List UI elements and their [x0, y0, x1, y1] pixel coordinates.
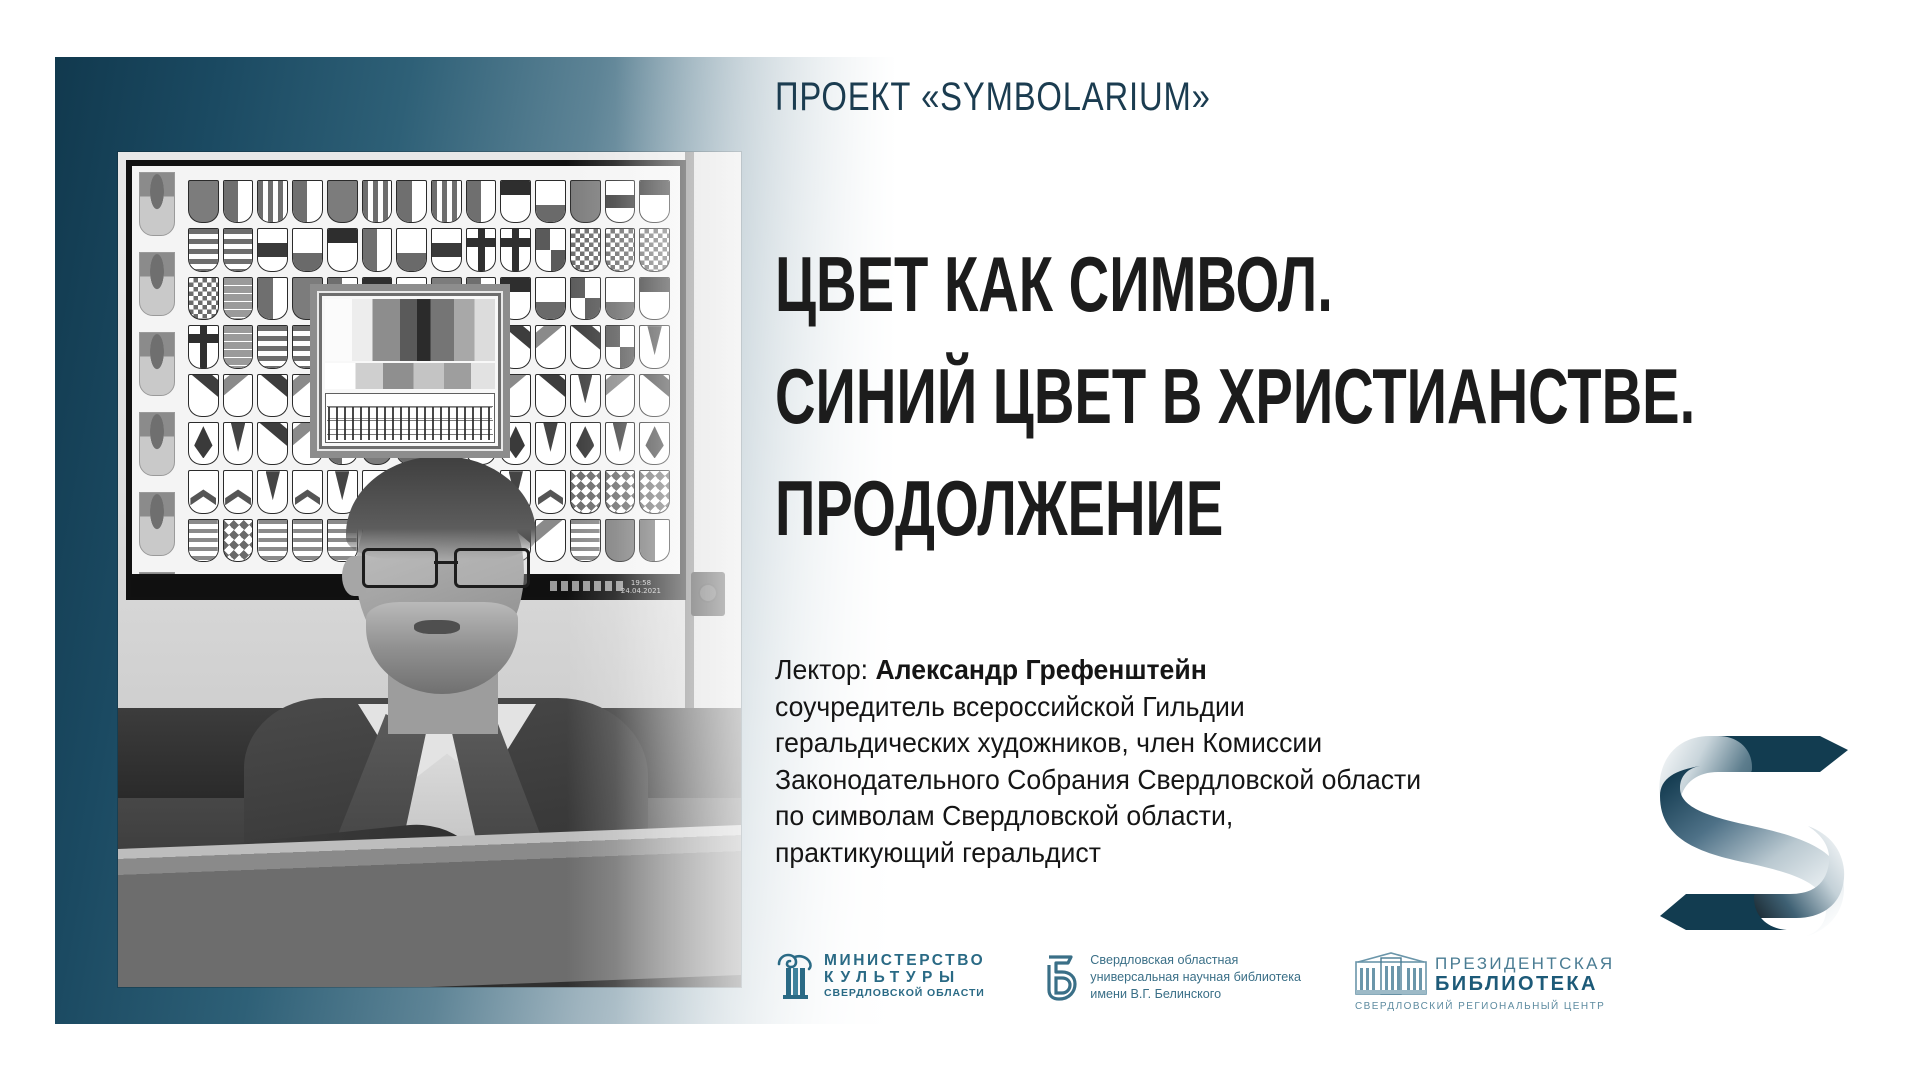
lecturer-bio-line: соучредитель всероссийской Гильдии: [775, 689, 1592, 726]
wall-socket: [691, 572, 725, 616]
logo-ministry-text: МИНИСТЕРСТВО КУЛЬТУРЫ СВЕРДЛОВСКОЙ ОБЛАС…: [824, 952, 985, 1000]
mouth: [414, 620, 460, 634]
logo-line-1: Свердловская областная: [1090, 952, 1301, 969]
library-building-icon: [1355, 952, 1427, 996]
lecturer-name: Александр Грефенштейн: [875, 654, 1206, 685]
title-line-2: СИНИЙ ЦВЕТ В ХРИСТИАНСТВЕ.: [775, 340, 1524, 452]
colour-chart-plate: [310, 284, 510, 458]
lecturer-bio-line: практикующий геральдист: [775, 835, 1592, 872]
thumbnail-item: [139, 332, 175, 396]
lecturer-label: Лектор:: [775, 654, 868, 685]
logo-presidential-library: ПРЕЗИДЕНТСКАЯ БИБЛИОТЕКА СВЕРДЛОВСКИЙ РЕ…: [1355, 952, 1615, 1013]
lecturer-name-line: Лектор: Александр Грефенштейн: [775, 652, 1592, 689]
partner-logos: МИНИСТЕРСТВО КУЛЬТУРЫ СВЕРДЛОВСКОЙ ОБЛАС…: [775, 952, 1615, 1013]
colour-swatch-row: [325, 299, 495, 361]
thumbnail-item: [139, 492, 175, 556]
ionic-column-icon: [775, 952, 815, 1000]
lecturer-photo: 19:58 24.04.2021: [118, 152, 741, 987]
logo-prezlib-top: ПРЕЗИДЕНТСКАЯ БИБЛИОТЕКА: [1355, 952, 1615, 996]
logo-line-2: КУЛЬТУРЫ: [824, 969, 985, 986]
table-surface: [118, 825, 741, 987]
logo-ministry-of-culture: МИНИСТЕРСТВО КУЛЬТУРЫ СВЕРДЛОВСКОЙ ОБЛАС…: [775, 952, 985, 1000]
logo-line-3: имени В.Г. Белинского: [1090, 986, 1301, 1003]
title-line-1: ЦВЕТ КАК СИМВОЛ.: [775, 228, 1524, 340]
presentation-slide: 19:58 24.04.2021: [0, 0, 1920, 1080]
thumbnail-item: [139, 252, 175, 316]
lecturer-bio-line: Законодательного Собрания Свердловской о…: [775, 762, 1592, 799]
thumbnail-item: [139, 572, 175, 574]
logo-line-1: ПРЕЗИДЕНТСКАЯ: [1435, 954, 1615, 973]
thumbnail-item: [139, 172, 175, 236]
colour-swatch-row: [325, 363, 495, 389]
logo-belinsky-library: Свердловская областная универсальная нау…: [1039, 952, 1301, 1003]
lecturer-bio-line: по символам Свердловской области,: [775, 798, 1592, 835]
letter-b-monogram-icon: [1039, 953, 1081, 1003]
eyeglasses: [360, 548, 532, 582]
logo-line-2: БИБЛИОТЕКА: [1435, 973, 1615, 995]
hair: [346, 456, 536, 560]
logo-belinsky-text: Свердловская областная универсальная нау…: [1090, 952, 1301, 1003]
logo-line-1: МИНИСТЕРСТВО: [824, 952, 985, 969]
logo-line-2: универсальная научная библиотека: [1090, 969, 1301, 986]
project-kicker: ПРОЕКТ «SYMBOLARIUM»: [775, 75, 1211, 120]
slide-thumbnails: [136, 172, 178, 568]
logo-line-3: СВЕРДЛОВСКИЙ РЕГИОНАЛЬНЫЙ ЦЕНТР: [1355, 1000, 1605, 1013]
logo-line-3: СВЕРДЛОВСКОЙ ОБЛАСТИ: [824, 986, 985, 1000]
photo-scene: 19:58 24.04.2021: [118, 152, 741, 987]
glyph-rows: [328, 407, 492, 440]
logo-prezlib-wordmark: ПРЕЗИДЕНТСКАЯ БИБЛИОТЕКА: [1435, 954, 1615, 995]
slide-title: ЦВЕТ КАК СИМВОЛ. СИНИЙ ЦВЕТ В ХРИСТИАНСТ…: [775, 228, 1815, 564]
lecturer-block: Лектор: Александр Грефенштейн соучредите…: [775, 652, 1592, 871]
thumbnail-item: [139, 412, 175, 476]
glyph-table: [325, 393, 495, 443]
lecturer-bio-line: геральдических художников, член Комиссии: [775, 725, 1592, 762]
title-line-3: ПРОДОЛЖЕНИЕ: [775, 452, 1524, 564]
symbolarium-s-logo-icon: [1648, 712, 1858, 950]
